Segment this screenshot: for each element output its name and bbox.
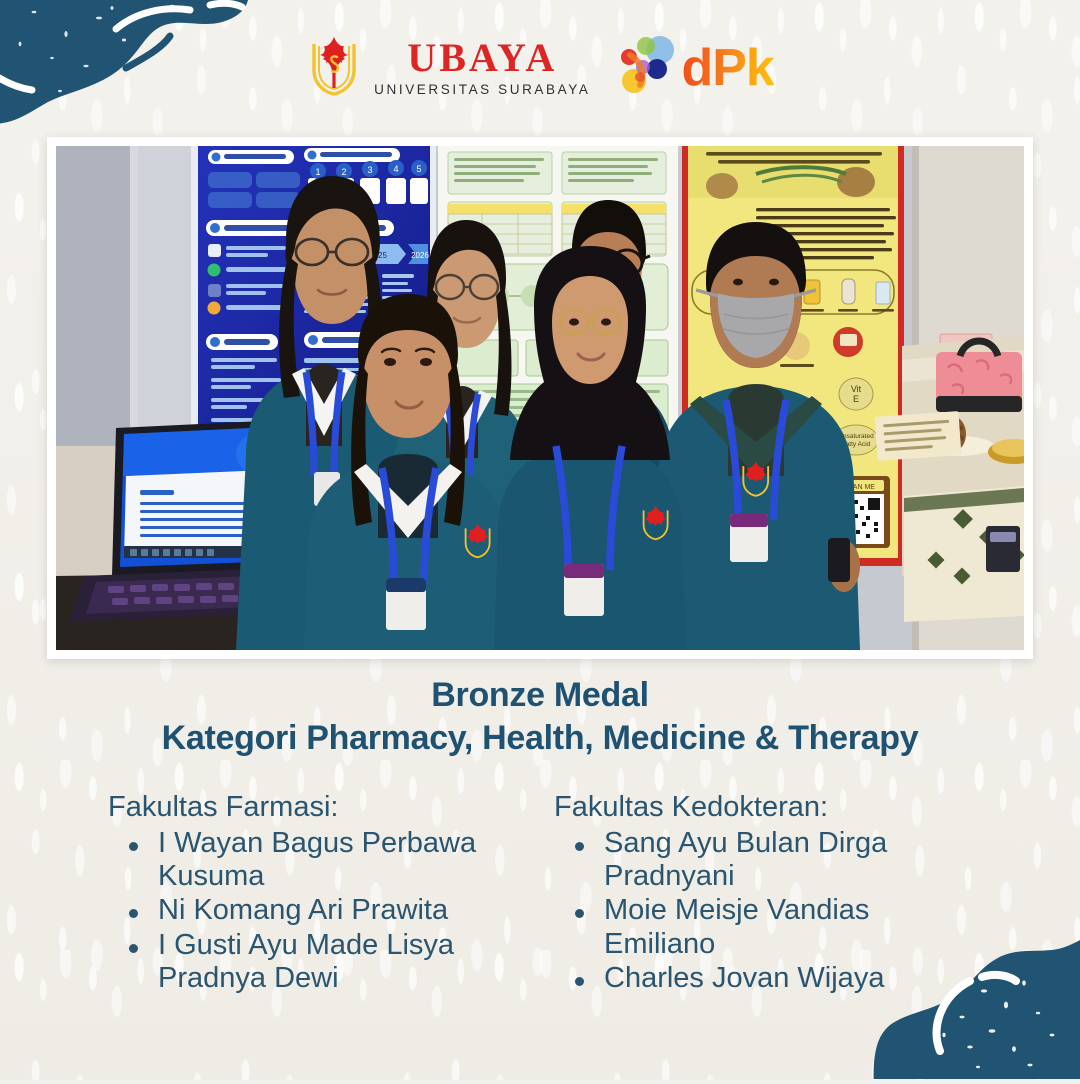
team-column-farmasi: Fakultas Farmasi: I Wayan Bagus Perbawa … <box>108 790 526 997</box>
member-list-farmasi: I Wayan Bagus Perbawa Kusuma Ni Komang A… <box>108 827 526 996</box>
event-photo: 1 2 3 4 5 <box>56 146 1024 650</box>
svg-text:3: 3 <box>367 165 372 175</box>
category-title: Kategori Pharmacy, Health, Medicine & Th… <box>0 719 1080 757</box>
list-item: I Gusti Ayu Made Lisya Pradnya Dewi <box>154 929 526 996</box>
faculty-heading-farmasi: Fakultas Farmasi: <box>108 790 526 825</box>
award-caption: Bronze Medal Kategori Pharmacy, Health, … <box>0 676 1080 757</box>
list-item: Moie Meisje Vandias Emiliano <box>600 894 972 961</box>
list-item: Charles Jovan Wijaya <box>600 962 972 995</box>
list-item: Ni Komang Ari Prawita <box>154 894 526 927</box>
list-item: Sang Ayu Bulan Dirga Pradnyani <box>600 827 972 894</box>
event-photo-frame: 1 2 3 4 5 <box>47 137 1033 659</box>
team-columns: Fakultas Farmasi: I Wayan Bagus Perbawa … <box>0 790 1080 997</box>
svg-text:1: 1 <box>315 167 320 177</box>
ubaya-logo-lockup: UBAYA UNIVERSITAS SURABAYA <box>306 34 590 101</box>
ubaya-subtitle-text: UNIVERSITAS SURABAYA <box>374 83 590 97</box>
team-column-kedokteran: Fakultas Kedokteran: Sang Ayu Bulan Dirg… <box>554 790 972 997</box>
header-logo-row: UBAYA UNIVERSITAS SURABAYA dPk <box>0 34 1080 101</box>
svg-text:2: 2 <box>341 167 346 177</box>
dpk-circles-icon <box>616 35 678 100</box>
member-list-kedokteran: Sang Ayu Bulan Dirga Pradnyani Moie Meis… <box>554 827 972 996</box>
svg-text:E: E <box>853 394 859 404</box>
dpk-wordmark-text: dPk <box>681 42 773 94</box>
svg-text:2026: 2026 <box>411 251 429 260</box>
ubaya-crest-icon <box>306 34 362 101</box>
svg-text:5: 5 <box>416 164 421 174</box>
svg-text:4: 4 <box>393 164 398 174</box>
svg-text:Vit: Vit <box>851 384 862 394</box>
medal-title: Bronze Medal <box>0 676 1080 714</box>
dpk-logo-lockup: dPk <box>616 35 773 100</box>
ubaya-name-text: UBAYA <box>407 38 557 78</box>
list-item: I Wayan Bagus Perbawa Kusuma <box>154 827 526 894</box>
faculty-heading-kedokteran: Fakultas Kedokteran: <box>554 790 972 825</box>
ubaya-wordmark: UBAYA UNIVERSITAS SURABAYA <box>374 38 590 97</box>
